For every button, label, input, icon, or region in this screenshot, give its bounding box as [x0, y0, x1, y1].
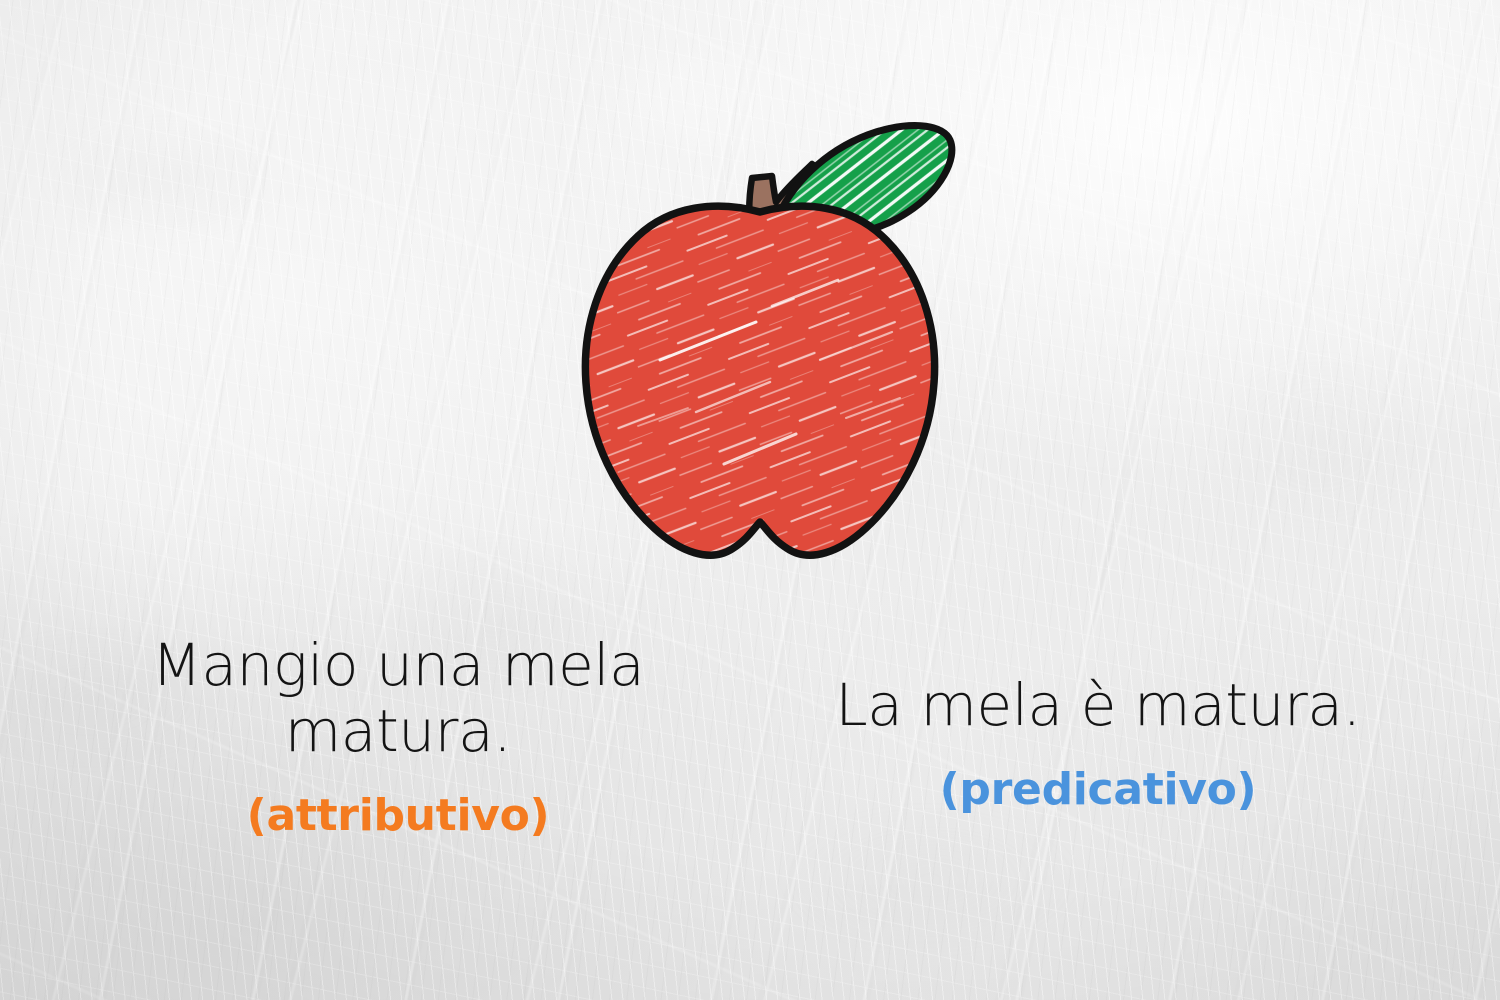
slide-canvas: Mangio una mela matura. (attributivo) La…: [0, 0, 1500, 1000]
caption-attributive: Mangio una mela matura. (attributivo): [78, 632, 718, 841]
apple-illustration: [520, 60, 1000, 580]
label-predicativo: (predicativo): [778, 764, 1418, 815]
sentence-predicative: La mela è matura.: [778, 672, 1418, 738]
apple-body: [570, 190, 960, 580]
label-attributivo: (attributivo): [78, 790, 718, 841]
caption-predicative: La mela è matura. (predicativo): [778, 672, 1418, 815]
sentence-attributive: Mangio una mela matura.: [78, 632, 718, 764]
